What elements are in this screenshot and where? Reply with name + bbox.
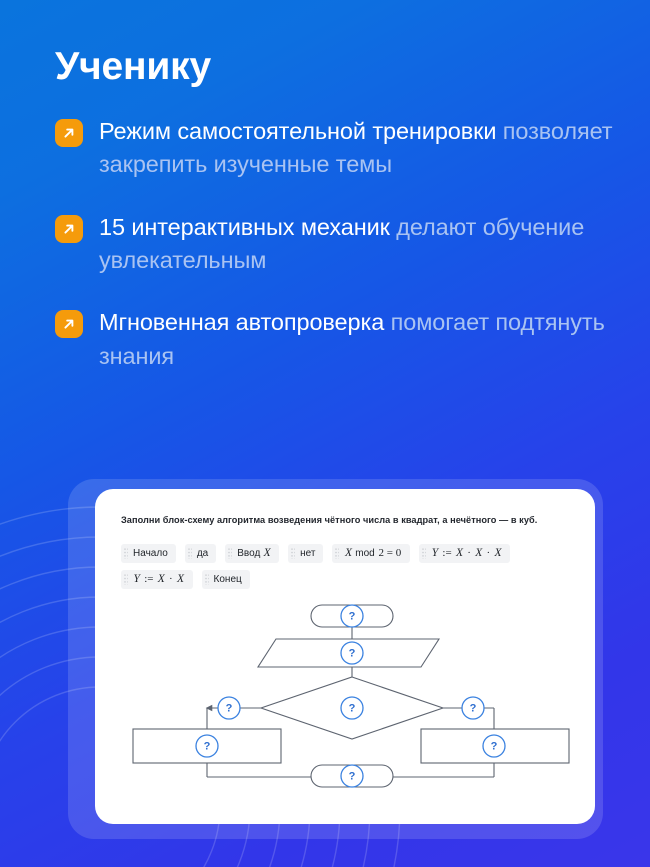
slot-label: ? xyxy=(226,702,233,714)
list-item-text: 15 интерактивных механик делают обучение… xyxy=(99,211,625,278)
slot-branch-yes[interactable]: ? xyxy=(218,697,240,719)
draggable-chip-tray: Начало да Ввод X нет X mod 2 = 0 xyxy=(121,544,541,589)
exercise-card: Заполни блок-схему алгоритма возведения … xyxy=(95,489,595,824)
chip-label: Начало xyxy=(133,548,168,559)
list-item-text: Режим самостоятельной тренировки позволя… xyxy=(99,115,625,182)
flowchart: ? ? ? ? xyxy=(121,601,569,791)
drag-handle-icon[interactable] xyxy=(205,574,209,585)
drag-handle-icon[interactable] xyxy=(188,548,192,559)
arrow-up-right-icon xyxy=(55,215,83,243)
page-title: Ученику xyxy=(55,46,211,89)
list-item: 15 интерактивных механик делают обучение… xyxy=(55,211,625,278)
slot-branch-no[interactable]: ? xyxy=(462,697,484,719)
slot-label: ? xyxy=(349,610,356,622)
slot-label: ? xyxy=(349,702,356,714)
slot-condition[interactable]: ? xyxy=(341,697,363,719)
chip-label: нет xyxy=(300,548,315,559)
slot-process-left[interactable]: ? xyxy=(196,735,218,757)
arrow-up-right-icon xyxy=(55,310,83,338)
slot-label: ? xyxy=(349,647,356,659)
feature-list: Режим самостоятельной тренировки позволя… xyxy=(55,115,625,402)
drag-handle-icon[interactable] xyxy=(124,574,128,585)
list-item-text: Мгновенная автопроверка помогает подтяну… xyxy=(99,306,625,373)
list-item: Мгновенная автопроверка помогает подтяну… xyxy=(55,306,625,373)
list-item-highlight: Мгновенная автопроверка xyxy=(99,309,384,335)
slot-end[interactable]: ? xyxy=(341,765,363,787)
drag-handle-icon[interactable] xyxy=(124,548,128,559)
chip-xmod2[interactable]: X mod 2 = 0 xyxy=(332,544,410,563)
promo-slide: Ученику Режим самостоятельной тренировки… xyxy=(0,0,650,867)
slot-process-right[interactable]: ? xyxy=(483,735,505,757)
slot-label: ? xyxy=(204,740,211,752)
chip-vvod-x[interactable]: Ввод X xyxy=(225,544,279,563)
drag-handle-icon[interactable] xyxy=(228,548,232,559)
chip-nachalo[interactable]: Начало xyxy=(121,544,176,563)
chip-cube[interactable]: Y := X · X · X xyxy=(419,544,510,563)
list-item-highlight: Режим самостоятельной тренировки xyxy=(99,118,496,144)
slot-start[interactable]: ? xyxy=(341,605,363,627)
list-item-highlight: 15 интерактивных механик xyxy=(99,214,390,240)
chip-label: Конец xyxy=(214,574,242,585)
chip-net[interactable]: нет xyxy=(288,544,323,563)
chip-label: Ввод X xyxy=(237,547,271,559)
chip-konec[interactable]: Конец xyxy=(202,570,250,589)
slot-label: ? xyxy=(349,770,356,782)
task-instruction: Заполни блок-схему алгоритма возведения … xyxy=(121,511,569,530)
drag-handle-icon[interactable] xyxy=(422,548,426,559)
drag-handle-icon[interactable] xyxy=(291,548,295,559)
slot-input[interactable]: ? xyxy=(341,642,363,664)
chip-label: X mod 2 = 0 xyxy=(344,547,402,559)
chip-square[interactable]: Y := X · X xyxy=(121,570,193,589)
drag-handle-icon[interactable] xyxy=(335,548,339,559)
chip-label: да xyxy=(197,548,208,559)
chip-label: Y := X · X xyxy=(133,573,185,585)
chip-da[interactable]: да xyxy=(185,544,216,563)
slot-label: ? xyxy=(470,702,477,714)
list-item: Режим самостоятельной тренировки позволя… xyxy=(55,115,625,182)
slot-label: ? xyxy=(491,740,498,752)
chip-label: Y := X · X · X xyxy=(431,547,502,559)
arrow-up-right-icon xyxy=(55,119,83,147)
